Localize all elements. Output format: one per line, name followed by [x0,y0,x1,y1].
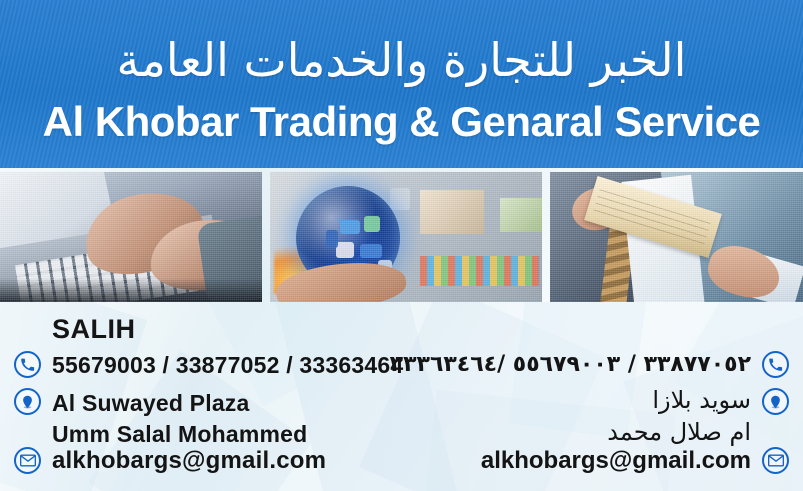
photo-handing-over-document [550,172,803,302]
phone-icon [762,351,789,378]
email-address-right: alkhobargs@gmail.com [481,448,751,474]
arabic-company-title: الخبر للتجارة والخدمات العامة [0,34,803,86]
address-line-1-english: Al Suwayed Plaza [52,390,250,416]
business-card: الخبر للتجارة والخدمات العامة Al Khobar … [0,0,803,491]
english-company-title: Al Khobar Trading & Genaral Service [0,98,803,146]
address-line-2-arabic: ام صلال محمد [607,419,751,445]
photo-hands-typing-on-laptop [0,172,262,302]
contact-person-name: SALIH [52,314,136,344]
address-line-2-english: Umm Salal Mohammed [52,421,307,447]
address-line-1-arabic: سويد بلازا [652,387,751,413]
location-pin-icon [14,388,41,415]
photo-strip [0,172,803,302]
card-header: الخبر للتجارة والخدمات العامة Al Khobar … [0,0,803,168]
envelope-icon [14,447,41,474]
email-address-left: alkhobargs@gmail.com [52,448,326,474]
location-pin-icon [762,388,789,415]
photo-digital-globe-media-icons [270,172,542,302]
phone-icon [14,351,41,378]
envelope-icon [762,447,789,474]
phone-numbers-english: 55679003 / 33877052 / 33363464 [52,352,403,378]
phone-numbers-arabic: ٣٣٨٧٧٠٥٢ / ٥٥٦٧٩٠٠٣ /٣٣٣٦٣٤٦٤ [390,352,751,378]
